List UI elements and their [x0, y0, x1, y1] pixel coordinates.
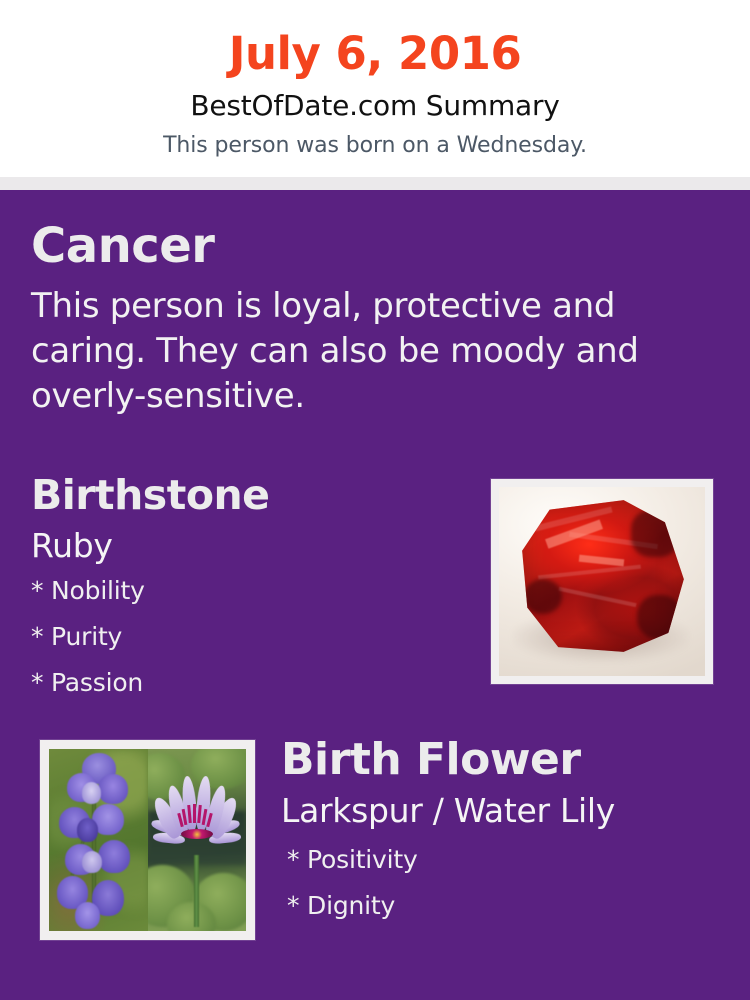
list-item: * Dignity: [287, 893, 721, 939]
birthflower-section: Birth Flower Larkspur / Water Lily * Pos…: [281, 738, 721, 939]
birthflower-heading: Birth Flower: [281, 738, 721, 782]
list-item: * Nobility: [31, 578, 451, 624]
birthflower-trait-list: * Positivity * Dignity: [281, 827, 721, 939]
larkspur-photo: [49, 749, 148, 931]
birthstone-image-frame: [491, 479, 713, 684]
zodiac-section: Cancer This person is loyal, protective …: [31, 222, 691, 419]
birthstone-name: Ruby: [31, 516, 451, 562]
site-subtitle: BestOfDate.com Summary: [0, 76, 750, 120]
birthstone-section: Birthstone Ruby * Nobility * Purity * Pa…: [31, 475, 451, 716]
header-divider: [0, 177, 750, 190]
birthflower-name: Larkspur / Water Lily: [281, 782, 721, 827]
list-item: * Purity: [31, 624, 451, 670]
birthflower-image-frame: [40, 740, 255, 940]
birthstone-image: [499, 487, 705, 676]
page-title-date: July 6, 2016: [0, 0, 750, 76]
list-item: * Passion: [31, 670, 451, 716]
birth-weekday-text: This person was born on a Wednesday.: [0, 120, 750, 157]
page-header: July 6, 2016 BestOfDate.com Summary This…: [0, 0, 750, 177]
birthstone-heading: Birthstone: [31, 475, 451, 516]
water-lily-photo: [148, 749, 247, 931]
list-item: * Positivity: [287, 847, 721, 893]
zodiac-description: This person is loyal, protective and car…: [31, 270, 646, 419]
summary-page: July 6, 2016 BestOfDate.com Summary This…: [0, 0, 750, 1000]
birthstone-trait-list: * Nobility * Purity * Passion: [31, 562, 451, 716]
birthflower-image: [49, 749, 246, 931]
zodiac-sign-name: Cancer: [31, 222, 691, 270]
